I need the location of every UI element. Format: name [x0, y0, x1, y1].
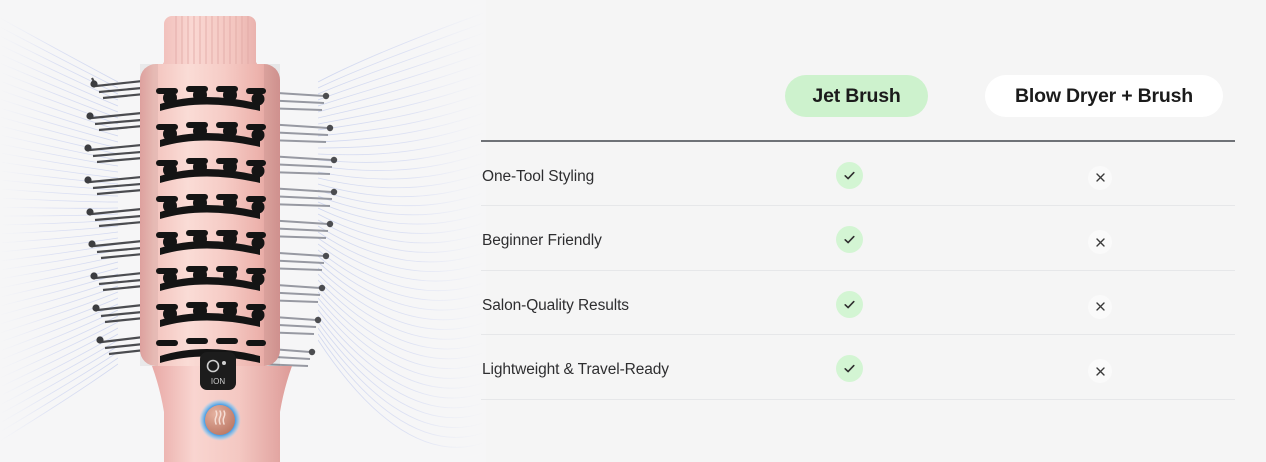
blow-dryer-cell — [1088, 166, 1112, 190]
comparison-table: One-Tool Styling Beginner Friendly — [481, 140, 1235, 400]
blow-dryer-cell — [1088, 359, 1112, 383]
feature-label: Beginner Friendly — [482, 232, 602, 250]
feature-label: Lightweight & Travel-Ready — [482, 361, 669, 379]
column-header-blow-dryer-brush-label: Blow Dryer + Brush — [1015, 85, 1193, 108]
column-header-jet-brush[interactable]: Jet Brush — [785, 75, 928, 117]
cross-icon — [1094, 300, 1107, 313]
cross-icon — [1094, 171, 1107, 184]
table-row: One-Tool Styling — [481, 142, 1235, 207]
table-row: Lightweight & Travel-Ready — [481, 335, 1235, 400]
table-row: Salon-Quality Results — [481, 271, 1235, 336]
brush-barrel — [140, 64, 280, 366]
cross-icon — [1094, 365, 1107, 378]
hot-air-brush-device: ION — [0, 0, 486, 462]
jet-brush-cell — [836, 226, 863, 253]
jet-brush-cell — [836, 162, 863, 189]
comparison-section: Jet Brush Blow Dryer + Brush One-Tool St… — [480, 0, 1266, 462]
product-hero-image: ION — [0, 0, 486, 462]
check-icon — [842, 297, 857, 312]
comparison-column-headers: Jet Brush Blow Dryer + Brush — [480, 75, 1240, 117]
check-icon — [842, 361, 857, 376]
brush-handle: ION — [152, 352, 292, 462]
jet-brush-cell — [836, 355, 863, 382]
table-row: Beginner Friendly — [481, 206, 1235, 271]
jet-brush-cell — [836, 291, 863, 318]
blow-dryer-cell — [1088, 295, 1112, 319]
svg-text:ION: ION — [211, 377, 225, 386]
cross-icon — [1094, 236, 1107, 249]
check-icon — [842, 232, 857, 247]
product-comparison-page: ION Jet Brush Blow Dryer + Brush — [0, 0, 1266, 462]
feature-label: One-Tool Styling — [482, 168, 594, 186]
column-header-blow-dryer-brush[interactable]: Blow Dryer + Brush — [985, 75, 1223, 117]
column-header-jet-brush-label: Jet Brush — [812, 85, 900, 108]
row-separator — [481, 399, 1235, 400]
feature-label: Salon-Quality Results — [482, 297, 629, 315]
blow-dryer-cell — [1088, 230, 1112, 254]
check-icon — [842, 168, 857, 183]
